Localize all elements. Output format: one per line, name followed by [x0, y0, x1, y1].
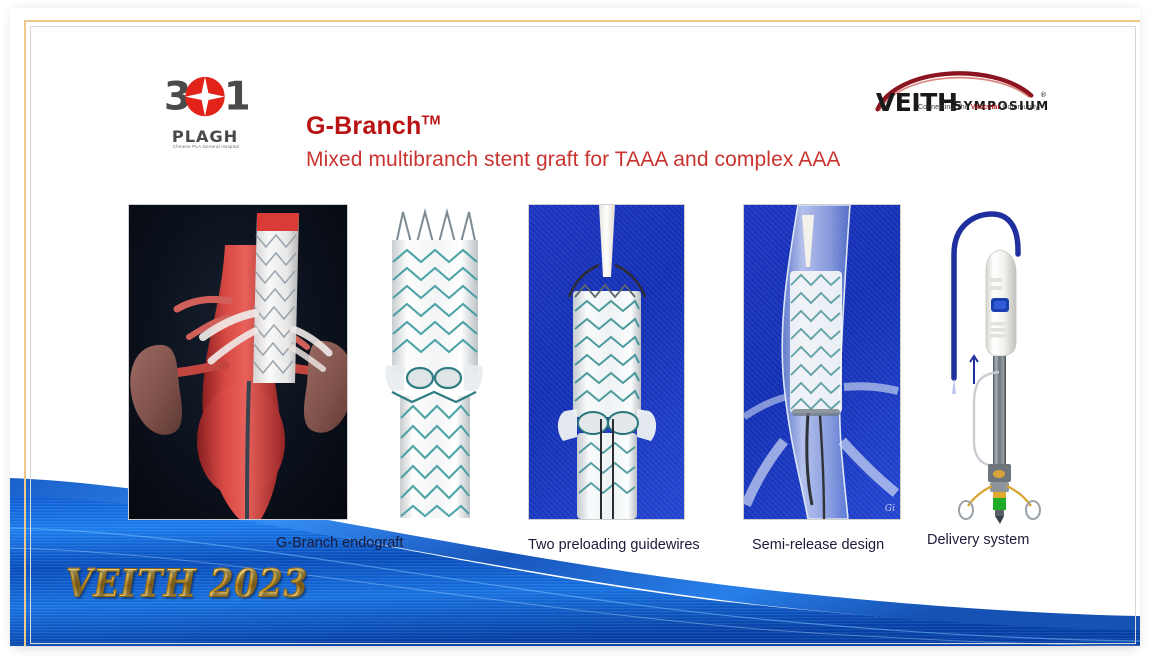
tagline-accent: Vascular: [971, 104, 1001, 111]
caption-semi-release-design: Semi-release design: [752, 537, 884, 553]
image-watermark: Gi: [885, 504, 895, 514]
slide-canvas: VEITH 2023 3 1 PLAGH Chinese PLA General…: [10, 8, 1140, 646]
semi-release-model-image: Gi: [743, 204, 901, 520]
semi-release-model-photo: [744, 205, 900, 519]
figure-stent-graft: [378, 206, 490, 518]
figure-delivery-system: [940, 206, 1058, 524]
preloaded-guidewires-image: [528, 204, 685, 520]
svg-text:®: ®: [1040, 91, 1047, 99]
delivery-system-image: [940, 206, 1058, 524]
caption-delivery-system: Delivery system: [927, 532, 1029, 548]
page-title: G-BranchTM: [306, 112, 441, 141]
svg-text:1: 1: [224, 73, 248, 119]
stent-graft-photo: [378, 206, 490, 518]
stent-graft-image: [378, 206, 490, 518]
delivery-system-photo: [940, 206, 1058, 524]
tagline-pre: Connecting The: [918, 104, 971, 111]
page-subtitle: Mixed multibranch stent graft for TAAA a…: [306, 148, 841, 172]
figure-preloading-guidewires: [528, 204, 685, 520]
caption-g-branch-endograft: G-Branch endograft: [276, 535, 403, 551]
preloaded-guidewires-photo: [529, 205, 684, 519]
aortic-stent-illustration: [129, 205, 347, 519]
svg-text:VEITH: VEITH: [876, 88, 958, 117]
tagline-post: Community: [1000, 104, 1038, 111]
figure-semi-release-design: Gi: [743, 204, 901, 520]
trademark-mark: TM: [422, 113, 441, 128]
plagh-logo: 3 1 PLAGH: [162, 70, 248, 154]
veith-logo-tagline: Connecting The Vascular Community: [918, 104, 1039, 111]
figure-g-branch-endograft: [128, 204, 348, 520]
plagh-logo-subtitle: Chinese PLA General Hospital: [158, 144, 254, 149]
page-title-text: G-Branch: [306, 112, 422, 140]
presentation-slide-viewer: VEITH 2023 3 1 PLAGH Chinese PLA General…: [0, 0, 1150, 658]
aortic-stent-illustration-image: [128, 204, 348, 520]
caption-two-preloading-guidewires: Two preloading guidewires: [528, 537, 700, 553]
veith-2023-wordmark: VEITH 2023: [66, 562, 308, 607]
